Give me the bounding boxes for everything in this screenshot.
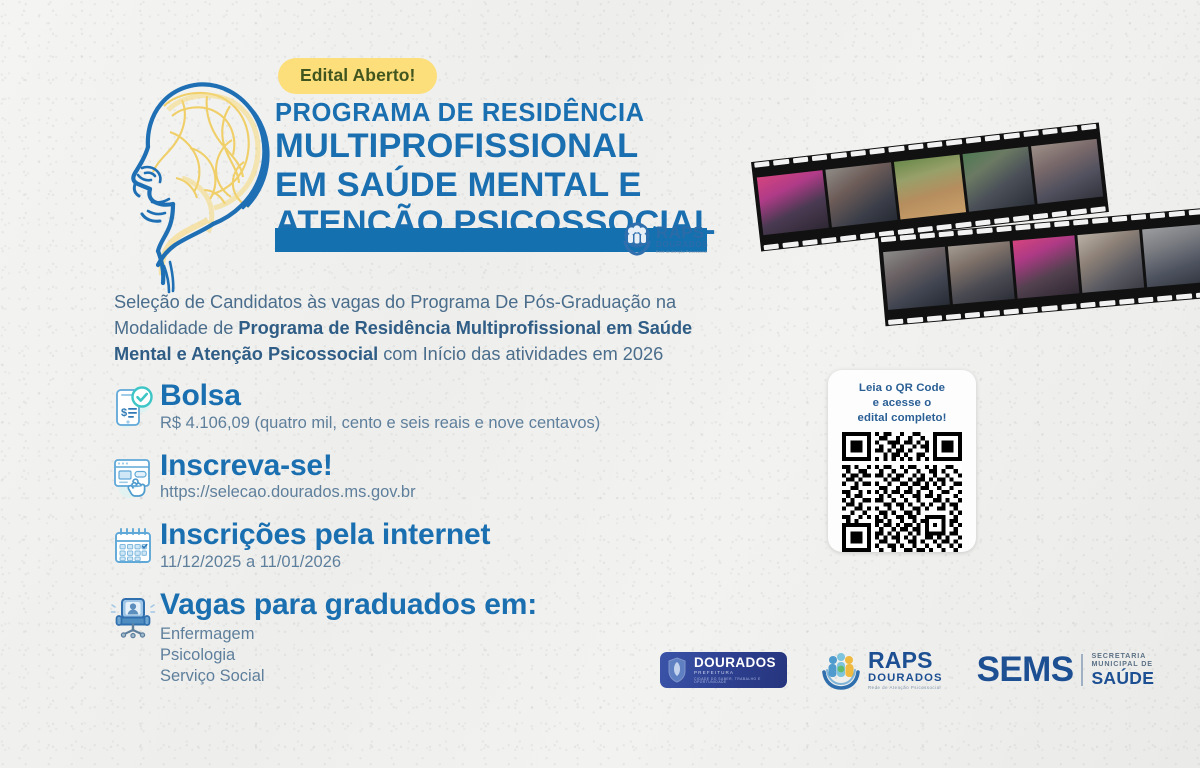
sems-sub3: SAÚDE (1091, 669, 1154, 689)
footer-logos: DOURADOS PREFEITURA CIDADE DO SABER, TRA… (660, 640, 1140, 700)
qr-caption-line-3: edital completo! (836, 411, 968, 426)
title-line-2: MULTIPROFISSIONAL (275, 127, 720, 166)
dourados-sub1: PREFEITURA (694, 671, 776, 676)
photo-frame (894, 154, 966, 219)
photo-frame (883, 247, 950, 310)
dourados-shield-icon (667, 657, 687, 683)
info-row-bolsa: $ Bolsa R$ 4.106,09 (quatro mil, cento e… (108, 380, 668, 434)
photo-frame (1013, 235, 1080, 298)
info-sub-bolsa: R$ 4.106,09 (quatro mil, cento e seis re… (160, 413, 668, 434)
info-row-inscreva-se: Inscreva-se! https://selecao.dourados.ms… (108, 450, 668, 504)
info-title-inscreva-se: Inscreva-se! (160, 450, 668, 482)
badge-edital-aberto: Edital Aberto! (278, 58, 437, 94)
raps-sub1: DOURADOS (868, 673, 943, 684)
raps-name: RAPS (868, 649, 943, 672)
info-title-bolsa: Bolsa (160, 380, 668, 412)
sems-divider (1081, 654, 1083, 686)
info-row-inscricoes: Inscrições pela internet 11/12/2025 a 11… (108, 519, 668, 573)
subtitle-part-2: com Início das atividades em 2026 (378, 344, 663, 364)
photo-frame (962, 147, 1034, 212)
info-body-bolsa: Bolsa R$ 4.106,09 (quatro mil, cento e s… (160, 380, 668, 434)
browser-click-icon (108, 452, 158, 502)
calendar-icon (108, 521, 158, 571)
title-line-3: EM SAÚDE MENTAL E (275, 166, 720, 205)
sems-name: SEMS (977, 650, 1074, 690)
info-title-inscricoes: Inscrições pela internet (160, 519, 668, 551)
sems-wordmark: SECRETARIA MUNICIPAL DE SAÚDE (1091, 652, 1154, 689)
photo-frame (948, 241, 1015, 304)
office-chair-person-icon (108, 591, 158, 641)
raps-dourados-logo: RAPS DOURADOS Rede de Atenção Psicossoci… (821, 649, 943, 691)
dourados-wordmark: DOURADOS PREFEITURA CIDADE DO SABER, TRA… (694, 656, 776, 685)
qr-caption-line-1: Leia o QR Code (836, 381, 968, 396)
photo-frame (757, 170, 829, 235)
dourados-name: DOURADOS (694, 656, 776, 670)
info-body-inscricoes: Inscrições pela internet 11/12/2025 a 11… (160, 519, 668, 573)
title-line-1: PROGRAMA DE RESIDÊNCIA (275, 100, 720, 127)
info-sub-inscricoes-datas: 11/12/2025 a 11/01/2026 (160, 552, 668, 573)
sems-saude-logo: SEMS SECRETARIA MUNICIPAL DE SAÚDE (977, 650, 1155, 690)
photo-frame (825, 162, 897, 227)
dourados-sub2: CIDADE DO SABER, TRABALHO E OPORTUNIDADE (694, 678, 776, 685)
info-title-vagas: Vagas para graduados em: (160, 589, 668, 621)
subtitle-paragraph: Seleção de Candidatos às vagas do Progra… (114, 290, 754, 368)
phone-money-check-icon: $ (108, 382, 158, 432)
photo-frame (1142, 224, 1200, 287)
raps-sub2: Rede de Atenção Psicossocial (868, 686, 943, 690)
qr-code-icon[interactable] (842, 432, 962, 552)
info-list: $ Bolsa R$ 4.106,09 (quatro mil, cento e… (108, 380, 668, 704)
info-sub-vagas-cursos: Enfermagem Psicologia Serviço Social (160, 624, 668, 688)
raps-header-logo: RAPS DOURADOS Rede de Atenção Psicossoci… (620, 220, 720, 260)
info-body-inscreva-se: Inscreva-se! https://selecao.dourados.ms… (160, 450, 668, 504)
info-body-vagas: Vagas para graduados em: Enfermagem Psic… (160, 589, 668, 688)
photo-frame (1077, 230, 1144, 293)
curso-item: Serviço Social (160, 666, 668, 687)
info-row-vagas: Vagas para graduados em: Enfermagem Psic… (108, 589, 668, 688)
header-block: Edital Aberto! PROGRAMA DE RESIDÊNCIA MU… (112, 48, 732, 298)
qr-caption-line-2: e acesse o (836, 396, 968, 411)
raps-wordmark: RAPS DOURADOS Rede de Atenção Psicossoci… (868, 649, 943, 691)
dourados-prefeitura-logo: DOURADOS PREFEITURA CIDADE DO SABER, TRA… (660, 652, 787, 688)
info-sub-inscreva-se-url[interactable]: https://selecao.dourados.ms.gov.br (160, 482, 668, 503)
svg-text:Rede de Atenção Psicossocial: Rede de Atenção Psicossocial (656, 250, 707, 254)
qr-code-card[interactable]: Leia o QR Code e acesse o edital complet… (828, 370, 976, 552)
sems-sub2: MUNICIPAL DE (1091, 660, 1154, 668)
qr-caption: Leia o QR Code e acesse o edital complet… (836, 381, 968, 425)
svg-text:$: $ (121, 407, 127, 419)
curso-item: Enfermagem (160, 624, 668, 645)
poster-canvas: Edital Aberto! PROGRAMA DE RESIDÊNCIA MU… (0, 0, 1200, 768)
photo-film-strips (755, 130, 1200, 315)
head-brain-illustration (112, 70, 284, 298)
svg-text:DOURADOS: DOURADOS (656, 240, 708, 249)
photo-frame (1031, 139, 1103, 204)
curso-item: Psicologia (160, 645, 668, 666)
raps-hands-people-icon (821, 650, 861, 690)
